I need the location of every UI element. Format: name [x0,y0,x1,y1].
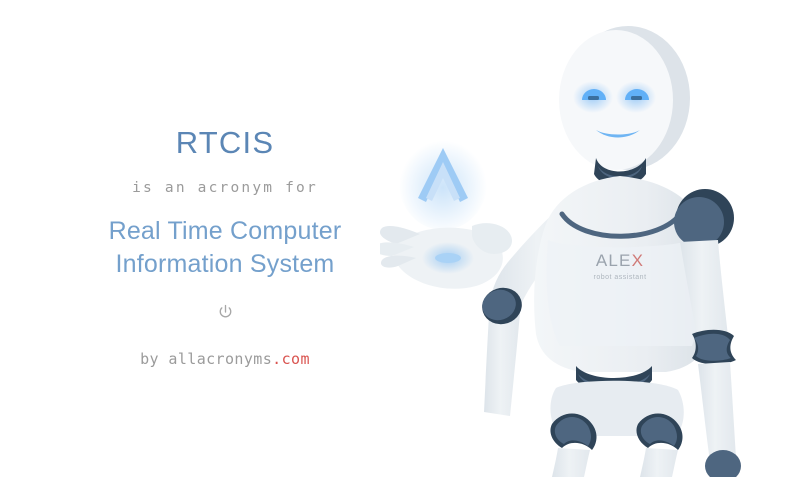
robot-head [559,26,690,170]
site-name-label: allacronyms [168,350,272,368]
hologram-chevron-icon [399,136,487,230]
site-tld-label: .com [272,350,310,368]
chest-sublabel-text: robot assistant [593,274,646,281]
acronym-definition-page: RTCIS is an acronym for Real Time Comput… [0,0,801,477]
power-icon [216,303,235,322]
acronym-expansion: Real Time Computer Information System [109,215,342,281]
chest-label: ALEX robot assistant [593,251,646,281]
chest-label-alex-text: ALEX [596,251,644,270]
acronym-title: RTCIS [176,126,274,160]
site-attribution: by allacronyms.com [140,350,310,368]
robot-assistant-illustration: ALEX robot assistant [380,0,801,477]
byline-by-label: by [140,350,159,368]
acronym-connector-label: is an acronym for [132,180,318,197]
